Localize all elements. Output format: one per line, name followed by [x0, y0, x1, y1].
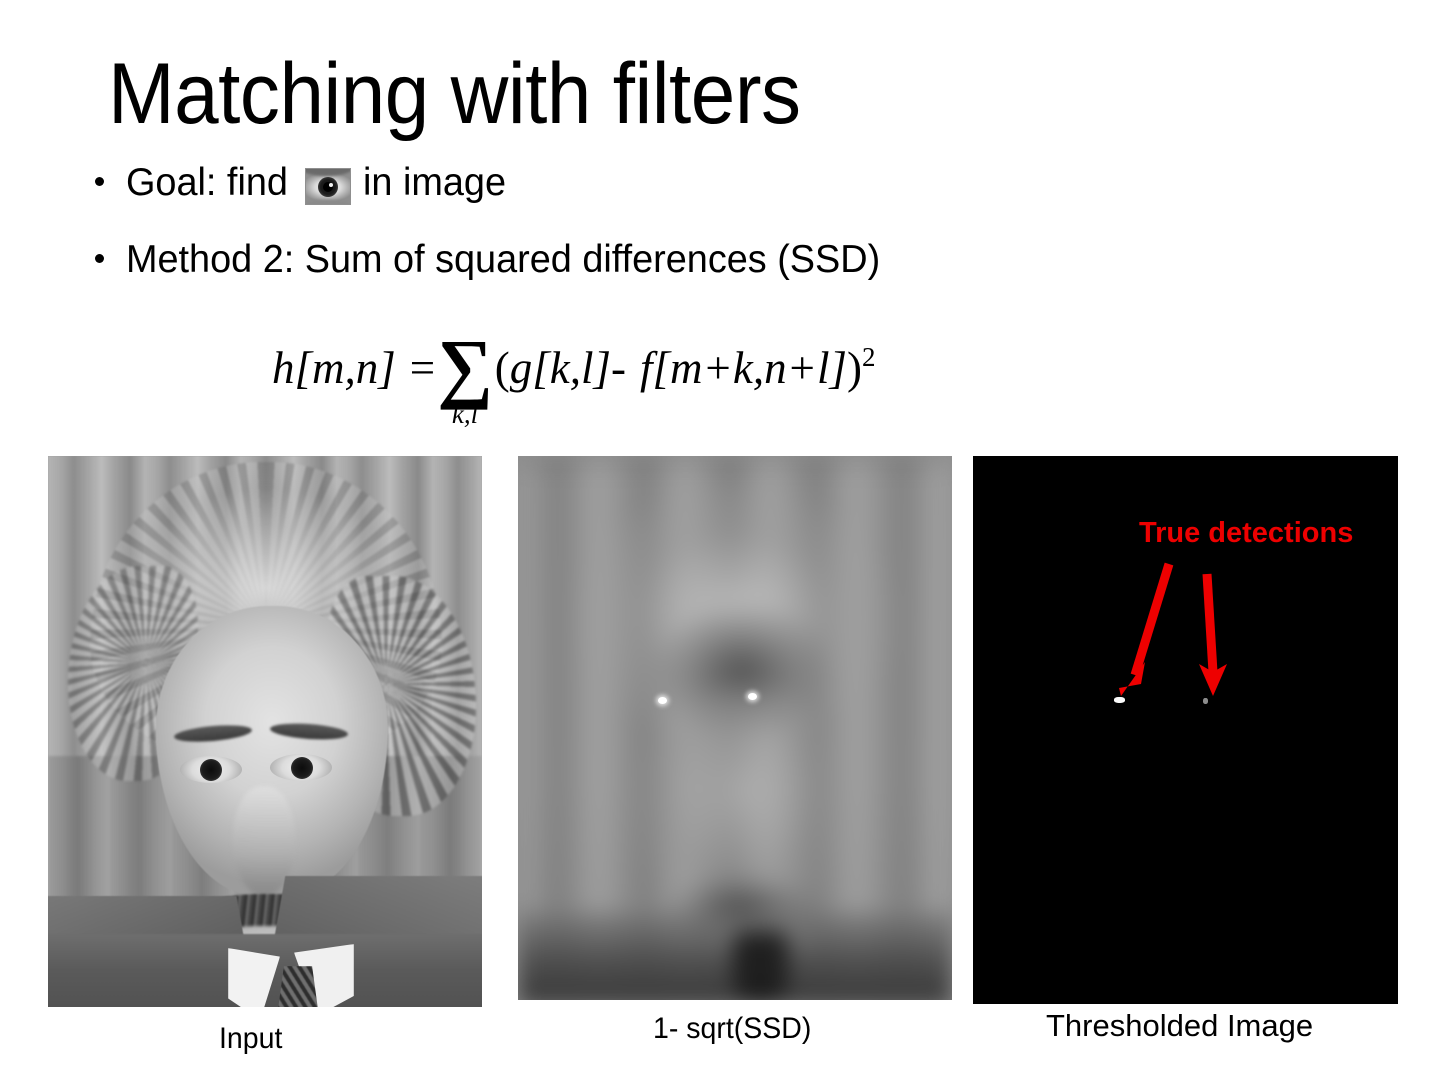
formula-lhs: h[m,n]	[272, 342, 396, 394]
bullet-item-goal: Goal: find in image	[95, 160, 1345, 206]
caption-input: Input	[219, 1022, 282, 1056]
sigma-subscript: k,l	[452, 400, 478, 428]
sigma-icon: ∑	[437, 336, 493, 398]
caption-ssd: 1- sqrt(SSD)	[653, 1012, 811, 1046]
image-panel-ssd	[518, 456, 952, 1000]
slide-canvas: Matching with filters Goal: find in imag…	[0, 0, 1440, 1080]
pupil-right	[291, 757, 313, 779]
formula-open-paren: (	[495, 342, 510, 394]
ssd-response-map-image	[518, 456, 952, 1000]
formula-minus: -	[611, 342, 626, 394]
ssd-peak-left-eye	[658, 697, 667, 704]
formula-term-f: f[m+k,n+l]	[640, 342, 847, 394]
formula-close-paren: )	[847, 342, 862, 394]
bullet-goal-prefix: Goal: find	[126, 160, 288, 206]
formula-term-g: g[k,l]	[510, 342, 611, 394]
ssd-formula: h[m,n] = ∑ k,l ( g[k,l] - f[m+k,n+l] ) 2	[272, 326, 876, 418]
einstein-portrait-image	[48, 456, 482, 1007]
bullet-list: Goal: find in image Method 2: Sum of squ…	[95, 160, 1345, 283]
eye-glint	[329, 183, 333, 187]
image-panel-input	[48, 456, 482, 1007]
page-title: Matching with filters	[108, 46, 801, 142]
bullet-method-text: Method 2: Sum of squared differences (SS…	[126, 237, 880, 283]
image-panel-thresholded: True detections	[973, 456, 1398, 1004]
detection-dot-right	[1203, 698, 1208, 704]
ssd-necktie-region	[733, 931, 788, 1000]
caption-thresholded: Thresholded Image	[1046, 1008, 1313, 1044]
detection-dot-left	[1114, 697, 1125, 703]
eye-template-thumbnail-icon	[305, 168, 351, 205]
formula-exponent: 2	[862, 342, 876, 373]
summation-operator: ∑ k,l	[437, 336, 493, 428]
ssd-blur-layer	[518, 456, 952, 1000]
bullet-goal-suffix: in image	[363, 160, 506, 206]
true-detections-label: True detections	[1139, 516, 1353, 550]
pupil-left	[200, 759, 222, 781]
bullet-marker-icon	[95, 254, 104, 263]
bullet-marker-icon	[95, 177, 104, 186]
formula-equals: =	[410, 342, 435, 394]
ssd-peak-right-eye	[748, 693, 757, 700]
thresholded-binary-image: True detections	[973, 456, 1398, 1004]
bullet-item-method: Method 2: Sum of squared differences (SS…	[95, 237, 1345, 283]
